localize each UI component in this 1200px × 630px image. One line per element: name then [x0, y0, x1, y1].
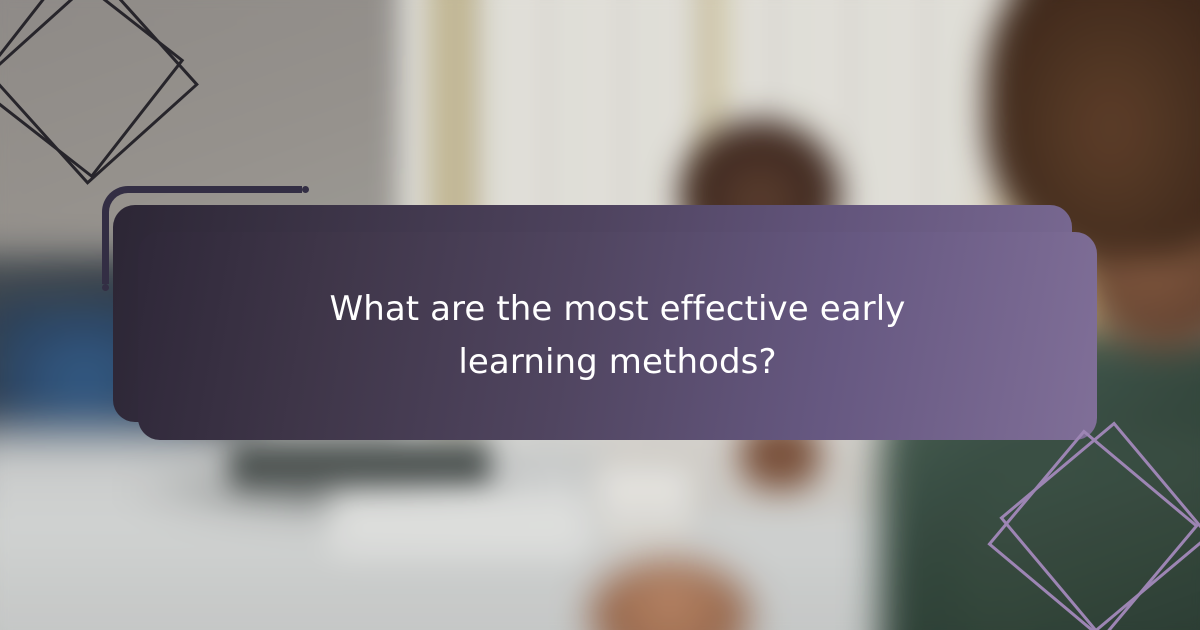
rotated-square-outline-icon	[999, 421, 1200, 630]
quote-card: What are the most effective early learni…	[138, 232, 1097, 440]
decorative-squares-top-left	[0, 0, 220, 208]
decorative-squares-bottom-right	[980, 424, 1200, 630]
quote-text: What are the most effective early learni…	[258, 283, 978, 388]
